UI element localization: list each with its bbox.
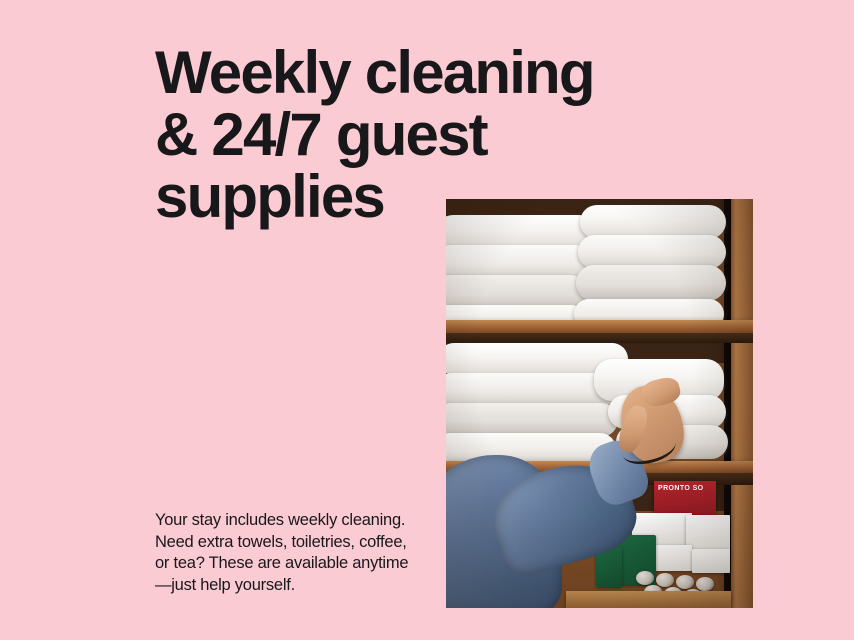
body-line-1: Your stay includes weekly cleaning.: [155, 510, 445, 532]
coffee-pod-4: [696, 577, 714, 591]
headline-line-2: & 24/7 guest: [155, 104, 455, 166]
body-line-3: or tea? These are available anytime: [155, 553, 445, 575]
pronto-box-label: PRONTO SO: [658, 485, 703, 492]
photo-scene: PRONTO SO: [446, 199, 753, 608]
headline-line-1: Weekly cleaning: [155, 42, 455, 104]
tissue-box-4: [692, 549, 730, 573]
body-line-4: —just help yourself.: [155, 575, 445, 597]
towel-top-6: [578, 235, 726, 269]
body-line-2: Need extra towels, toiletries, coffee,: [155, 532, 445, 554]
towel-mid-3: [446, 403, 618, 437]
headline-line-3: supplies: [155, 166, 455, 228]
coffee-pod-3: [676, 575, 694, 589]
coffee-pod-1: [636, 571, 654, 585]
supply-tray-ledge: [566, 591, 731, 608]
coffee-pod-2: [656, 573, 674, 587]
shelf-board-top: [446, 320, 753, 333]
page-title: Weekly cleaning & 24/7 guest supplies: [155, 42, 455, 228]
towel-top-5: [580, 205, 726, 239]
towel-top-1: [446, 215, 596, 249]
shelf-shadow-top: [446, 333, 753, 343]
towel-top-2: [446, 245, 592, 279]
promo-card: Weekly cleaning & 24/7 guest supplies Yo…: [0, 0, 854, 640]
body-copy: Your stay includes weekly cleaning. Need…: [155, 510, 445, 596]
closet-frame-post: [731, 199, 753, 608]
linen-closet-photo: PRONTO SO: [446, 199, 753, 608]
towel-top-7: [576, 265, 726, 301]
